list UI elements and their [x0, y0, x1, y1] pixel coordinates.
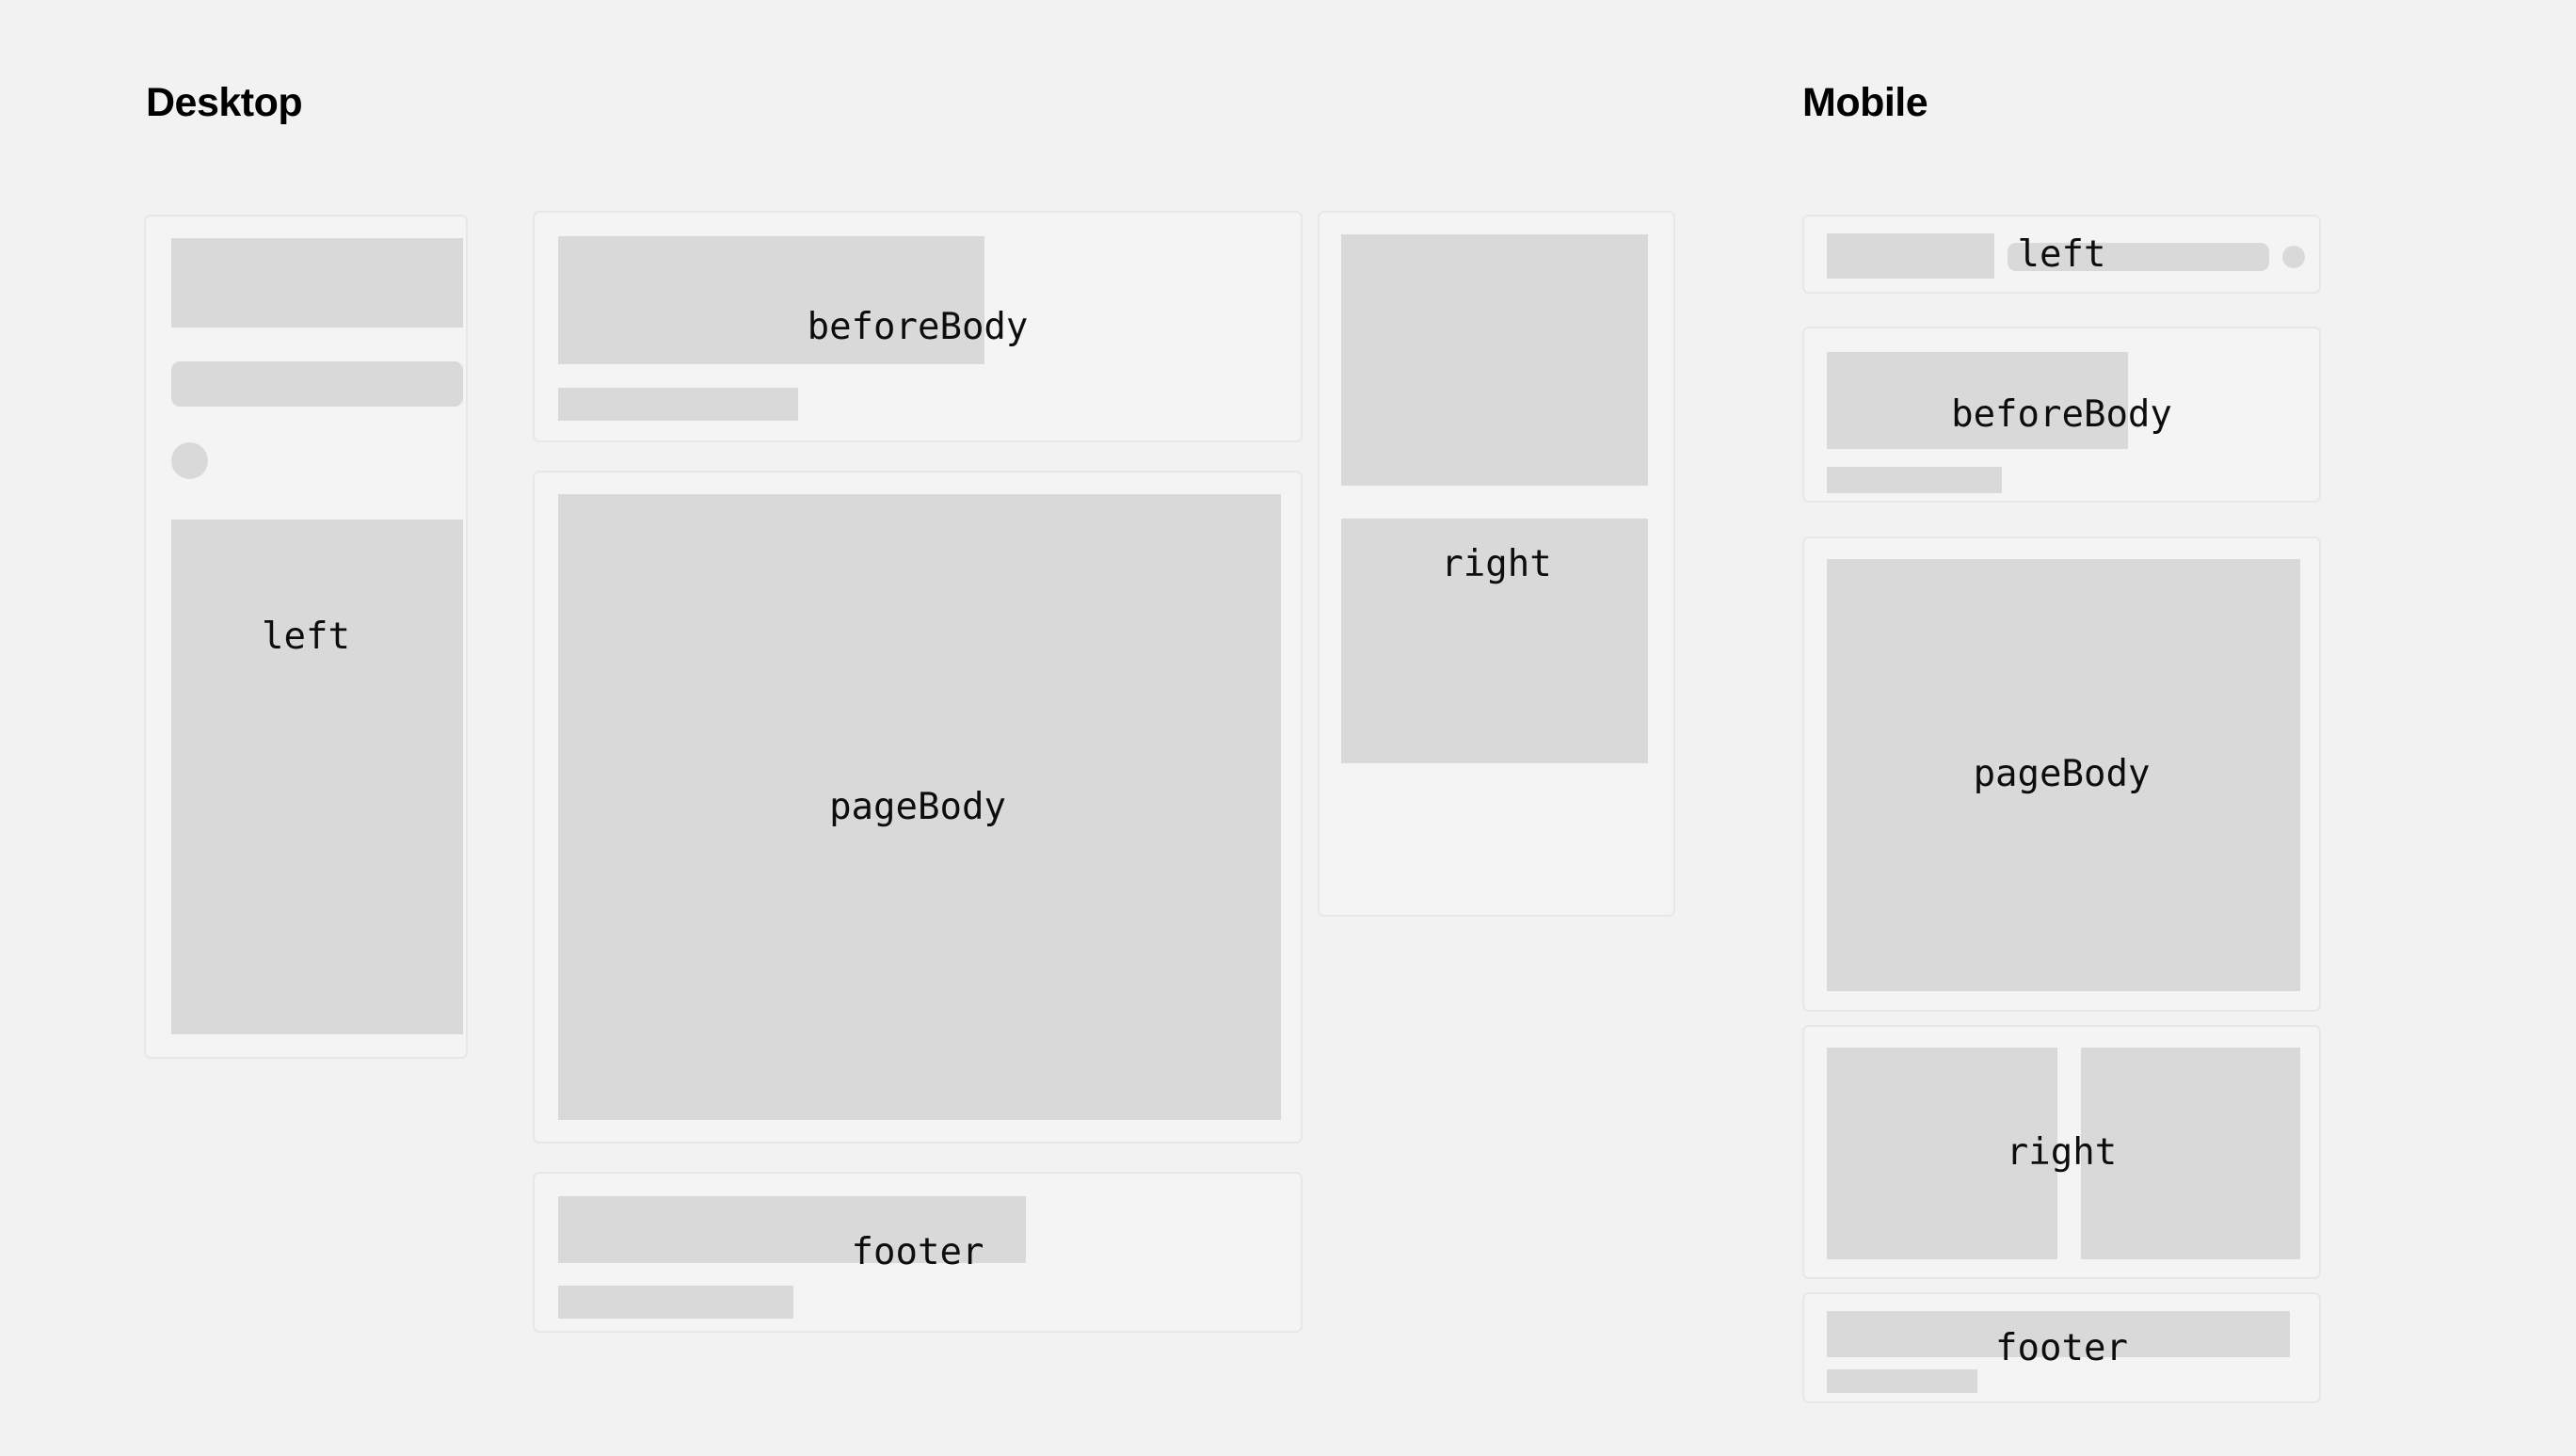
wireframe-canvas: Desktop Mobile left beforeBody pageBody … [0, 0, 2576, 1456]
desktop-left-block-3 [171, 520, 463, 1034]
mobile-slot-pagebody[interactable]: pageBody [1802, 536, 2321, 1012]
desktop-slot-footer[interactable]: footer [533, 1172, 1303, 1333]
desktop-slot-pagebody[interactable]: pageBody [533, 471, 1303, 1144]
mobile-slot-beforebody[interactable]: beforeBody [1802, 327, 2321, 503]
mobile-pagebody-block-1 [1827, 559, 2300, 991]
mobile-left-block-1 [1827, 233, 1994, 279]
mobile-section-heading: Mobile [1802, 83, 1928, 123]
mobile-beforebody-block-2 [1827, 467, 2002, 493]
mobile-slot-right[interactable]: right [1802, 1025, 2321, 1279]
desktop-slot-left[interactable]: left [144, 215, 468, 1059]
desktop-right-block-1 [1341, 234, 1648, 486]
desktop-section-heading: Desktop [146, 83, 302, 123]
mobile-left-block-2 [2008, 243, 2269, 271]
desktop-right-block-2 [1341, 519, 1648, 763]
mobile-slot-left[interactable]: left [1802, 215, 2321, 294]
mobile-right-column-2 [2081, 1048, 2300, 1259]
mobile-left-avatar-dot-icon [2282, 246, 2305, 268]
mobile-beforebody-block-1 [1827, 352, 2128, 449]
desktop-left-block-1 [171, 238, 463, 328]
mobile-slot-footer[interactable]: footer [1802, 1292, 2321, 1403]
desktop-slot-right[interactable]: right [1318, 211, 1675, 917]
desktop-left-avatar-dot-icon [171, 442, 208, 479]
mobile-footer-block-1 [1827, 1311, 2290, 1357]
desktop-slot-beforebody[interactable]: beforeBody [533, 211, 1303, 442]
desktop-beforebody-block-1 [558, 236, 984, 364]
desktop-pagebody-block-1 [558, 494, 1281, 1120]
mobile-footer-block-2 [1827, 1369, 1977, 1393]
desktop-beforebody-block-2 [558, 388, 798, 421]
desktop-footer-block-2 [558, 1286, 793, 1319]
mobile-right-column-1 [1827, 1048, 2057, 1259]
desktop-left-block-2 [171, 361, 463, 407]
desktop-footer-block-1 [558, 1196, 1026, 1263]
